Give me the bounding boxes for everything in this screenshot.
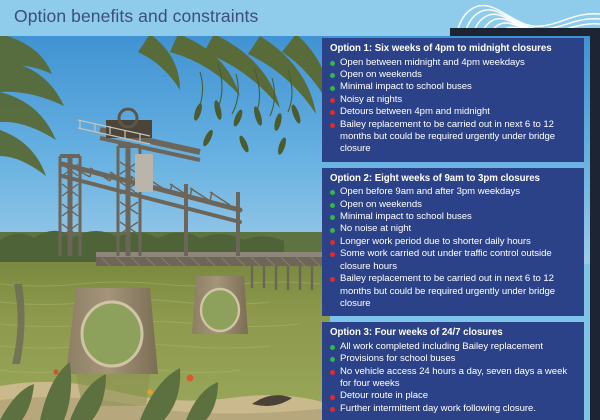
option-panel-3-list: All work completed including Bailey repl…	[329, 341, 576, 415]
bridge-pier-far	[192, 276, 248, 334]
bridge-control-box	[135, 154, 153, 192]
list-item-text: Open before 9am and after 3pm weekdays	[340, 186, 520, 197]
buoy	[187, 375, 194, 382]
benefit-dot-icon	[330, 61, 335, 66]
constraint-dot-icon	[330, 123, 335, 128]
slide-root: Option benefits and constraints Option 1…	[0, 0, 600, 420]
constraint-dot-icon	[330, 395, 335, 400]
slide-right-frame	[590, 34, 600, 420]
list-item: Provisions for school buses	[329, 353, 576, 365]
list-item-text: Open between midnight and 4pm weekdays	[340, 57, 525, 68]
list-item: Open on weekends	[329, 199, 576, 211]
list-item-text: Minimal impact to school buses	[340, 81, 472, 92]
list-item: Open between midnight and 4pm weekdays	[329, 57, 576, 69]
option-panel-2: Option 2: Eight weeks of 9am to 3pm clos…	[322, 168, 584, 317]
list-item: Longer work period due to shorter daily …	[329, 236, 576, 248]
page-title: Option benefits and constraints	[14, 6, 258, 27]
list-item: Detour route in place	[329, 390, 576, 402]
list-item: Minimal impact to school buses	[329, 211, 576, 223]
constraint-dot-icon	[330, 110, 335, 115]
list-item-text: Provisions for school buses	[340, 353, 455, 364]
list-item-text: No vehicle access 24 hours a day, seven …	[340, 366, 567, 389]
benefit-dot-icon	[330, 215, 335, 220]
benefit-dot-icon	[330, 86, 335, 91]
list-item-text: Open on weekends	[340, 69, 422, 80]
benefit-dot-icon	[330, 203, 335, 208]
constraint-dot-icon	[330, 240, 335, 245]
list-item: Bailey replacement to be carried out in …	[329, 119, 576, 156]
list-item-text: Minimal impact to school buses	[340, 211, 472, 222]
constraint-dot-icon	[330, 370, 335, 375]
constraint-dot-icon	[330, 277, 335, 282]
list-item: No noise at night	[329, 223, 576, 235]
benefit-dot-icon	[330, 228, 335, 233]
list-item: All work completed including Bailey repl…	[329, 341, 576, 353]
list-item-text: Noisy at nights	[340, 94, 402, 105]
list-item: Bailey replacement to be carried out in …	[329, 273, 576, 310]
header-right-frame	[450, 28, 600, 36]
option-panels: Option 1: Six weeks of 4pm to midnight c…	[322, 38, 584, 420]
benefit-dot-icon	[330, 73, 335, 78]
list-item-text: Longer work period due to shorter daily …	[340, 236, 531, 247]
buoy	[147, 389, 153, 395]
list-item: Some work carried out under traffic cont…	[329, 248, 576, 273]
buoy	[53, 369, 58, 374]
constraint-dot-icon	[330, 98, 335, 103]
list-item-text: Open on weekends	[340, 199, 422, 210]
list-item: Minimal impact to school buses	[329, 81, 576, 93]
list-item-text: Detour route in place	[340, 390, 428, 401]
constraint-dot-icon	[330, 252, 335, 257]
constraint-dot-icon	[330, 407, 335, 412]
list-item: Open before 9am and after 3pm weekdays	[329, 186, 576, 198]
list-item-text: Some work carried out under traffic cont…	[340, 248, 552, 271]
list-item-text: Detours between 4pm and midnight	[340, 106, 490, 117]
option-panel-3-title: Option 3: Four weeks of 24/7 closures	[330, 327, 576, 340]
list-item: Further intermittent day work following …	[329, 403, 576, 415]
benefit-dot-icon	[330, 357, 335, 362]
list-item-text: All work completed including Bailey repl…	[340, 341, 543, 352]
option-panel-2-title: Option 2: Eight weeks of 9am to 3pm clos…	[330, 173, 576, 186]
benefit-dot-icon	[330, 190, 335, 195]
option-panel-1: Option 1: Six weeks of 4pm to midnight c…	[322, 38, 584, 162]
list-item-text: No noise at night	[340, 223, 411, 234]
option-panel-3: Option 3: Four weeks of 24/7 closures Al…	[322, 322, 584, 420]
list-item: Noisy at nights	[329, 94, 576, 106]
option-panel-1-title: Option 1: Six weeks of 4pm to midnight c…	[330, 43, 576, 56]
bridge-pier-near	[66, 288, 158, 374]
list-item: Open on weekends	[329, 69, 576, 81]
option-panel-1-list: Open between midnight and 4pm weekdays O…	[329, 57, 576, 156]
list-item: No vehicle access 24 hours a day, seven …	[329, 366, 576, 391]
list-item-text: Bailey replacement to be carried out in …	[340, 119, 555, 155]
list-item: Detours between 4pm and midnight	[329, 106, 576, 118]
list-item-text: Further intermittent day work following …	[340, 403, 536, 414]
list-item-text: Bailey replacement to be carried out in …	[340, 273, 555, 309]
benefit-dot-icon	[330, 345, 335, 350]
option-panel-2-list: Open before 9am and after 3pm weekdays O…	[329, 186, 576, 310]
